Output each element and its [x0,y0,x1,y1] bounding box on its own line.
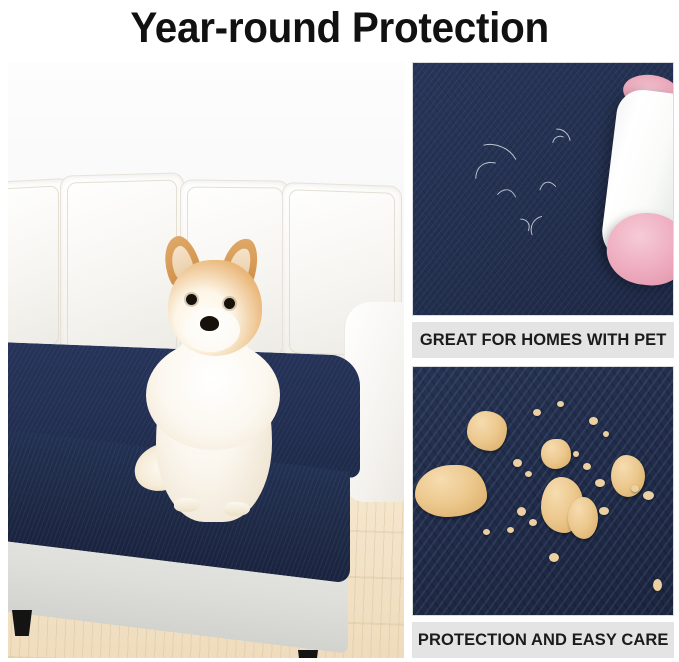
crumb-small [529,519,537,526]
sofa-leg-right-icon [298,650,318,658]
crumb-small [643,491,654,500]
crumb-small [507,527,514,533]
crumbs-photo [412,366,674,616]
caption-band-1: GREAT FOR HOMES WITH PET [412,322,674,358]
hero-lifestyle-photo [8,62,404,658]
caption-band-2: PROTECTION AND EASY CARE [412,622,674,658]
page-title-bar: Year-round Protection [0,0,679,56]
crumb-small [513,459,522,467]
crumb-small [603,431,609,437]
caption-text-1: GREAT FOR HOMES WITH PET [420,330,667,350]
pet-hair-photo [412,62,674,316]
crumb-small [653,579,662,591]
dog-paw-right [224,502,250,516]
dog-paw-left [174,498,200,512]
crumb-small [631,485,639,492]
crumb-medium [568,497,598,539]
back-cushion-1 [8,178,66,356]
crumb-large [415,465,487,517]
crumb-small [483,529,490,535]
crumb-medium [611,455,645,497]
crumb-small [599,507,609,515]
crumb-small [525,471,532,477]
dog-nose [200,316,219,331]
crumb-large [467,411,507,451]
feature-panel-column: GREAT FOR HOMES WITH PET [412,62,674,658]
crumb-small [549,553,559,562]
sofa-leg-left-icon [12,610,32,636]
crumb-small [557,401,564,407]
dog-eye-left [186,294,197,305]
crumb-medium [541,439,571,469]
page-title: Year-round Protection [130,6,549,50]
crumb-small [595,479,605,487]
crumb-small [517,507,526,516]
dog-eye-right [224,298,235,309]
pomeranian-dog [138,232,288,522]
crumb-small [533,409,541,416]
panel-spacer [412,358,674,366]
product-feature-image: Year-round Protection [0,0,679,662]
crumb-small [583,463,591,470]
dog-chest-ruff [146,340,280,450]
caption-text-2: PROTECTION AND EASY CARE [418,630,669,650]
crumb-small [589,417,598,425]
crumb-small [573,451,579,457]
